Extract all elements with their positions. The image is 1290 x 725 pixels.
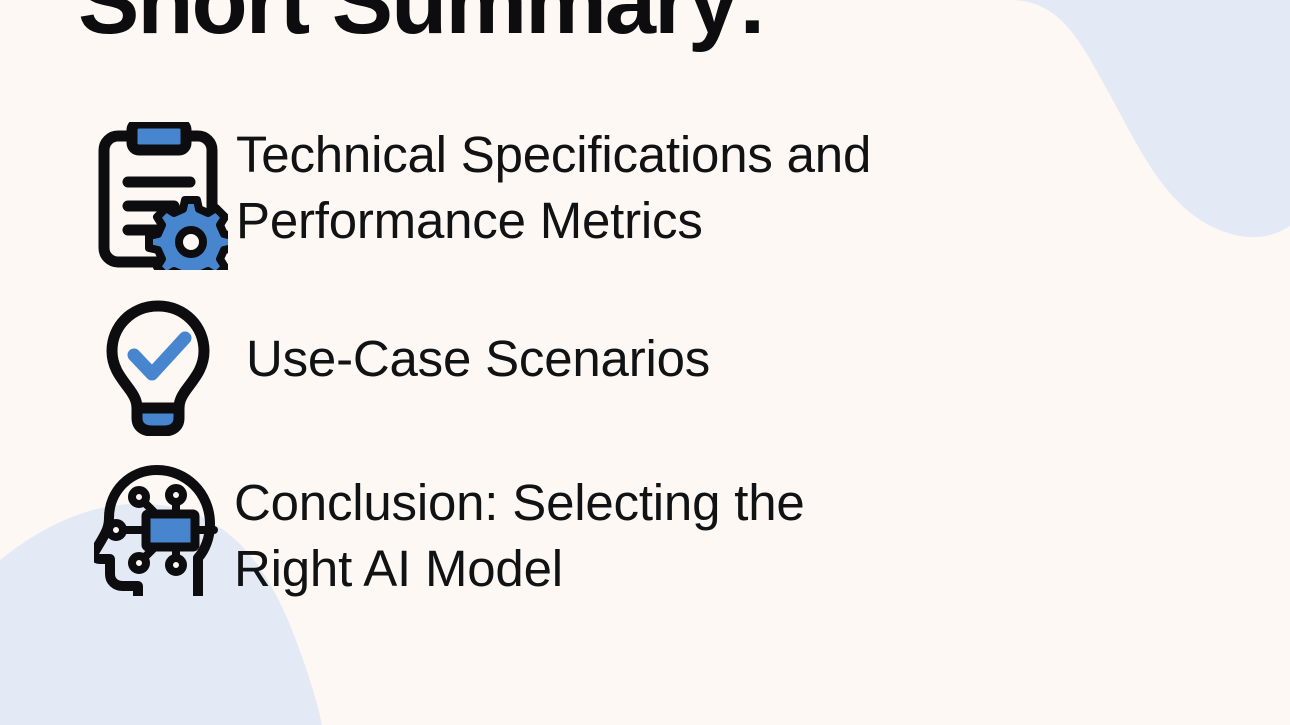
list-item-label: Technical Specifications and Performance…: [236, 118, 871, 254]
list-item-label: Use-Case Scenarios: [246, 300, 710, 392]
page-title: Short Summary:: [78, 0, 766, 52]
lightbulb-check-icon: [92, 300, 246, 436]
list-item[interactable]: Technical Specifications and Performance…: [92, 118, 871, 270]
blob-top-right: [1010, 0, 1290, 237]
slide-canvas: Short Summary:: [0, 0, 1290, 725]
list-item[interactable]: Use-Case Scenarios: [92, 300, 710, 436]
head-chip-icon: [92, 462, 234, 596]
list-item-label: Conclusion: Selecting the Right AI Model: [234, 462, 805, 602]
clipboard-gear-icon: [92, 118, 236, 270]
list-item[interactable]: Conclusion: Selecting the Right AI Model: [92, 462, 805, 602]
